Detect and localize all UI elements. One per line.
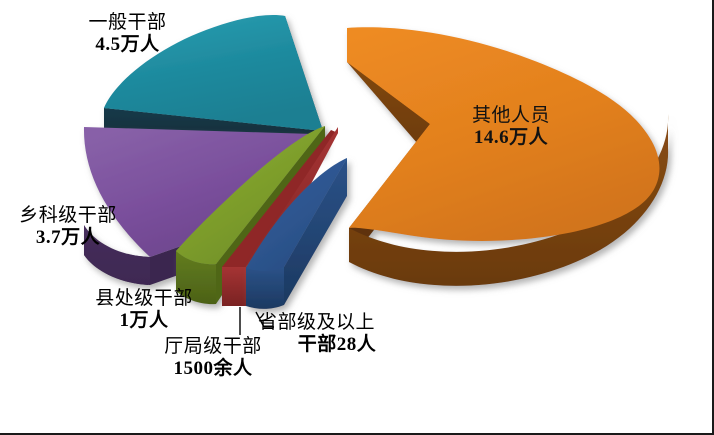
slice-label-general-cadre: 一般干部 4.5万人 bbox=[60, 12, 195, 57]
slice-label-other-personnel-value: 14.6万人 bbox=[443, 127, 579, 149]
slice-label-county-cadre-value: 1万人 bbox=[76, 310, 212, 332]
slice-label-township-cadre-value: 3.7万人 bbox=[2, 227, 134, 249]
chart-canvas: 一般干部 4.5万人 乡科级干部 3.7万人 县处级干部 1万人 厅局级干部 1… bbox=[0, 0, 714, 435]
slice-label-township-cadre: 乡科级干部 3.7万人 bbox=[2, 205, 134, 250]
slice-label-county-cadre: 县处级干部 1万人 bbox=[76, 288, 212, 333]
slice-label-county-cadre-name: 县处级干部 bbox=[76, 288, 212, 310]
slice-label-bureau-cadre-value: 1500余人 bbox=[140, 358, 286, 380]
slice-label-general-cadre-value: 4.5万人 bbox=[60, 34, 195, 56]
slice-label-township-cadre-name: 乡科级干部 bbox=[2, 205, 134, 227]
slice-label-provincial-cadre: 省部级及以上 干部28人 bbox=[258, 312, 408, 357]
pie-slice-other[interactable] bbox=[347, 27, 668, 286]
slice-label-general-cadre-name: 一般干部 bbox=[60, 12, 195, 34]
slice-label-other-personnel-name: 其他人员 bbox=[443, 105, 579, 127]
slice-label-other-personnel: 其他人员 14.6万人 bbox=[443, 105, 579, 150]
slice-label-provincial-cadre-value: 干部28人 bbox=[258, 334, 408, 356]
slice-label-provincial-cadre-name: 省部级及以上 bbox=[258, 312, 408, 334]
